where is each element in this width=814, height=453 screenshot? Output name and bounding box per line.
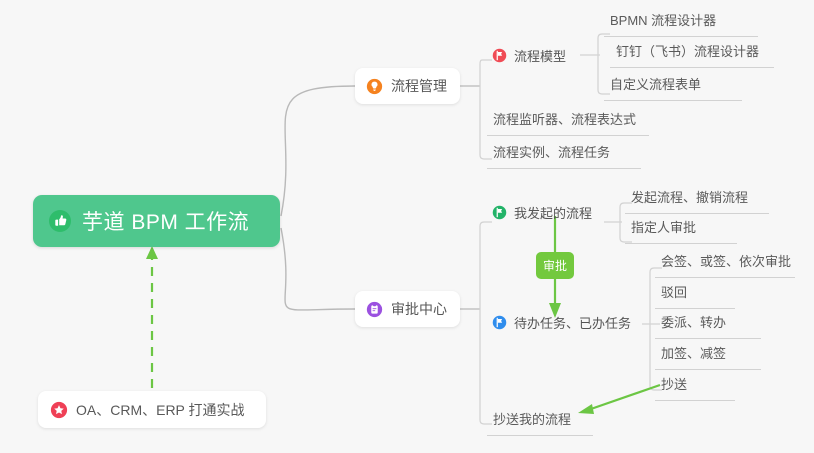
dashed-arrow-head	[146, 246, 158, 259]
clipboard-icon	[366, 301, 383, 318]
callout-node-integration[interactable]: OA、CRM、ERP 打通实战	[38, 391, 266, 428]
thumbs-up-icon	[48, 209, 72, 233]
sub-node-my-started[interactable]: 我发起的流程	[492, 201, 592, 223]
topic-label-flow-management: 流程管理	[391, 76, 447, 96]
leaf-delegate-transfer[interactable]: 委派、转办	[655, 313, 761, 339]
approval-tag[interactable]: 审批	[536, 252, 574, 279]
star-icon	[50, 401, 68, 419]
cc-arrow-line	[588, 385, 660, 410]
connector-approval-center-bracket	[480, 222, 492, 424]
topic-node-flow-management[interactable]: 流程管理	[355, 68, 460, 104]
sub-node-flow-model[interactable]: 流程模型	[492, 44, 566, 66]
leaf-bpmn-designer[interactable]: BPMN 流程设计器	[604, 11, 758, 37]
sub-node-todo-done[interactable]: 待办任务、已办任务	[492, 311, 631, 333]
leaf-start-cancel-process[interactable]: 发起流程、撤销流程	[625, 188, 769, 214]
callout-label: OA、CRM、ERP 打通实战	[76, 400, 245, 420]
flag-blue-icon	[492, 315, 507, 330]
flag-green-icon	[492, 205, 507, 220]
leaf-flow-listener[interactable]: 流程监听器、流程表达式	[487, 110, 649, 136]
leaf-reject[interactable]: 驳回	[655, 283, 735, 309]
flag-red-icon	[492, 48, 507, 63]
root-label: 芋道 BPM 工作流	[82, 206, 249, 236]
leaf-cc[interactable]: 抄送	[655, 375, 735, 401]
topic-node-approval-center[interactable]: 审批中心	[355, 291, 460, 327]
leaf-dingtalk-designer[interactable]: 钉钉（飞书）流程设计器	[610, 42, 774, 68]
connector-root-to-flow-management	[281, 86, 355, 216]
leaf-countersign[interactable]: 会签、或签、依次审批	[655, 252, 795, 278]
mindmap-canvas: 芋道 BPM 工作流 流程管理 审批中心	[0, 0, 814, 453]
lightbulb-icon	[366, 78, 383, 95]
topic-label-approval-center: 审批中心	[391, 299, 447, 319]
leaf-flow-instance[interactable]: 流程实例、流程任务	[487, 143, 641, 169]
leaf-assignee-approval[interactable]: 指定人审批	[625, 218, 737, 244]
sub-label-my-started: 我发起的流程	[514, 203, 592, 222]
leaf-cc-to-me[interactable]: 抄送我的流程	[487, 410, 593, 436]
leaf-add-remove-sign[interactable]: 加签、减签	[655, 344, 761, 370]
sub-label-flow-model: 流程模型	[514, 46, 566, 65]
sub-label-todo-done: 待办任务、已办任务	[514, 313, 631, 332]
connector-root-to-approval-center	[281, 228, 355, 310]
leaf-custom-form[interactable]: 自定义流程表单	[604, 75, 742, 101]
root-node[interactable]: 芋道 BPM 工作流	[33, 195, 280, 247]
approval-tag-label: 审批	[543, 257, 567, 274]
